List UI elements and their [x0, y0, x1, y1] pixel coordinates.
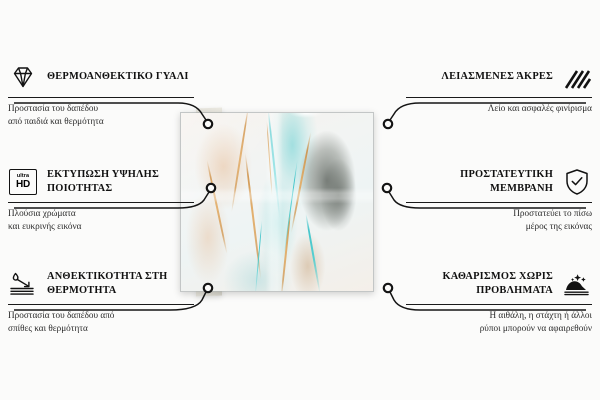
feature-header: ΠΡΟΣΤΑΤΕΥΤΙΚΗ ΜΕΜΒΡΑΝΗ [406, 165, 592, 199]
feature-header: ΘΕΡΜΟΑΝΘΕΚΤΙΚΟ ΓΥΑΛΙ [8, 60, 194, 94]
infographic-page: ΘΕΡΜΟΑΝΘΕΚΤΙΚΟ ΓΥΑΛΙ Προστασία του δαπέδ… [0, 0, 600, 400]
shield-check-icon [562, 167, 592, 197]
feature-polished-edges: ΛΕΙΑΣΜΕΝΕΣ ΆΚΡΕΣ Λείο και ασφαλές φινίρι… [406, 60, 592, 115]
feature-heat-resistant-glass: ΘΕΡΜΟΑΝΘΕΚΤΙΚΟ ΓΥΑΛΙ Προστασία του δαπέδ… [8, 60, 194, 128]
feature-title: ΛΕΙΑΣΜΕΝΕΣ ΆΚΡΕΣ [406, 70, 553, 84]
ultra-hd-badge-bottom: HD [16, 180, 30, 190]
feature-title: ΘΕΡΜΟΑΝΘΕΚΤΙΚΟ ΓΥΑΛΙ [47, 70, 194, 84]
polished-edges-icon [562, 62, 592, 92]
feature-description: Προστασία του δαπέδου από σπίθες και θερ… [8, 309, 194, 335]
feature-title: ΚΑΘΑΡΙΣΜΟΣ ΧΩΡΙΣ ΠΡΟΒΛΗΜΑΤΑ [406, 270, 553, 297]
feature-high-quality-print: ultra HD ΕΚΤΥΠΩΣΗ ΥΨΗΛΗΣ ΠΟΙΟΤΗΤΑΣ Πλούσ… [8, 165, 194, 233]
glass-panel-artwork [180, 112, 374, 292]
feature-header: ΚΑΘΑΡΙΣΜΟΣ ΧΩΡΙΣ ΠΡΟΒΛΗΜΑΤΑ [406, 267, 592, 301]
feature-protective-membrane: ΠΡΟΣΤΑΤΕΥΤΙΚΗ ΜΕΜΒΡΑΝΗ Προστατεύει το πί… [406, 165, 592, 233]
feature-description: Λείο και ασφαλές φινίρισμα [406, 102, 592, 115]
feature-divider [406, 304, 592, 305]
feature-title: ΠΡΟΣΤΑΤΕΥΤΙΚΗ ΜΕΜΒΡΑΝΗ [406, 168, 553, 195]
heat-resistance-icon [8, 269, 38, 299]
feature-easy-cleaning: ΚΑΘΑΡΙΣΜΟΣ ΧΩΡΙΣ ΠΡΟΒΛΗΜΑΤΑ Η αιθάλη, η … [406, 267, 592, 335]
feature-divider [8, 304, 194, 305]
feature-header: ultra HD ΕΚΤΥΠΩΣΗ ΥΨΗΛΗΣ ΠΟΙΟΤΗΤΑΣ [8, 165, 194, 199]
feature-heat-durability: ΑΝΘΕΚΤΙΚΟΤΗΤΑ ΣΤΗ ΘΕΡΜΟΤΗΤΑ Προστασία το… [8, 267, 194, 335]
feature-description: Προστατεύει το πίσω μέρος της εικόνας [406, 207, 592, 233]
feature-header: ΑΝΘΕΚΤΙΚΟΤΗΤΑ ΣΤΗ ΘΕΡΜΟΤΗΤΑ [8, 267, 194, 301]
ultra-hd-icon: ultra HD [8, 167, 38, 197]
feature-description: Προστασία του δαπέδου από παιδιά και θερ… [8, 102, 194, 128]
feature-divider [8, 97, 194, 98]
feature-description: Η αιθάλη, η στάχτη ή άλλοι ρύποι μπορούν… [406, 309, 592, 335]
feature-header: ΛΕΙΑΣΜΕΝΕΣ ΆΚΡΕΣ [406, 60, 592, 94]
feature-divider [8, 202, 194, 203]
feature-title: ΕΚΤΥΠΩΣΗ ΥΨΗΛΗΣ ΠΟΙΟΤΗΤΑΣ [47, 168, 194, 195]
feature-title: ΑΝΘΕΚΤΙΚΟΤΗΤΑ ΣΤΗ ΘΕΡΜΟΤΗΤΑ [47, 270, 194, 297]
marble-ink-artwork [181, 113, 373, 291]
diamond-icon [8, 62, 38, 92]
easy-clean-icon [562, 269, 592, 299]
feature-divider [406, 97, 592, 98]
feature-divider [406, 202, 592, 203]
product-image-stage [180, 112, 400, 292]
feature-description: Πλούσια χρώματα και ευκρινής εικόνα [8, 207, 194, 233]
